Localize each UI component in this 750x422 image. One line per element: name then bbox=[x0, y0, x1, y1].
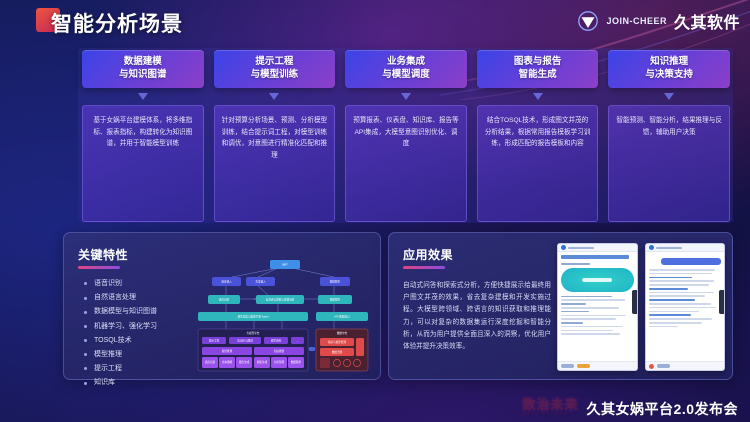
text-line bbox=[561, 318, 616, 320]
text-line bbox=[649, 280, 714, 282]
triangle-logo-icon bbox=[577, 11, 599, 31]
list-item[interactable]: 自然语言处理 bbox=[84, 294, 209, 302]
bullet-icon bbox=[84, 353, 87, 356]
text-line bbox=[649, 311, 700, 313]
svg-text:数据服务: 数据服务 bbox=[330, 279, 341, 283]
list-item[interactable]: TOSQL技术 bbox=[84, 337, 209, 345]
text-line bbox=[649, 295, 706, 297]
text-line bbox=[649, 303, 711, 305]
chat-answer-screenshot[interactable] bbox=[557, 243, 638, 371]
bullet-icon bbox=[84, 382, 87, 385]
pipeline-columns: 数据建模 与知识图谱 基于女娲平台建模体系，将多维指标、报表指标，构建转化为知识… bbox=[82, 50, 730, 222]
list-item[interactable]: 模型推理 bbox=[84, 351, 209, 359]
feature-label: TOSQL技术 bbox=[94, 337, 132, 345]
pipeline-step-2-body: 针对预算分析场景、预测、分析模型训练，结合提示词工程，对模型训练和调优，对意图进… bbox=[214, 105, 336, 222]
slide-root: 智能分析场景 JOIN-CHEER 久其软件 数据建模 与知识图谱 基于女娲平台… bbox=[0, 0, 750, 422]
application-effect-title: 应用效果 bbox=[403, 246, 453, 263]
text-line bbox=[649, 326, 678, 328]
svg-text:分析预测: 分析预测 bbox=[274, 360, 285, 364]
record-button[interactable] bbox=[649, 364, 654, 369]
app-logo-icon bbox=[649, 245, 654, 250]
list-item[interactable]: 机器学习、强化学习 bbox=[84, 323, 209, 331]
slide-header: 智能分析场景 JOIN-CHEER 久其软件 bbox=[0, 0, 750, 42]
list-item[interactable]: 提示工程 bbox=[84, 365, 209, 373]
text-line bbox=[649, 299, 695, 301]
logo-en-text: JOIN-CHEER bbox=[606, 16, 667, 26]
bullet-icon bbox=[84, 339, 87, 342]
pipeline-step-1-body-text: 基于女娲平台建模体系，将多维指标、报表指标，构建转化为知识图谱，并用于智能模型训… bbox=[90, 115, 196, 150]
application-effect-text: 自动式问答和探索式分析，方便快捷展示给最终用户图文并茂的效果，省去复杂建模和开发… bbox=[403, 280, 551, 353]
svg-text:自然语言理解与意图识别: 自然语言理解与意图识别 bbox=[266, 297, 295, 301]
pipeline-step-1-title-line2: 与知识图谱 bbox=[119, 69, 167, 82]
pipeline-step-3-title-line2: 与模型调度 bbox=[382, 69, 430, 82]
text-line bbox=[561, 326, 623, 328]
application-effect-panel: 应用效果 自动式问答和探索式分析，方便快捷展示给最终用户图文并茂的效果，省去复杂… bbox=[388, 232, 733, 380]
screenshot-gallery bbox=[557, 243, 725, 371]
pipeline-step-5-chip[interactable]: 知识推理 与决策支持 bbox=[608, 50, 730, 88]
pipeline-step-2[interactable]: 提示工程 与模型训练 针对预算分析场景、预测、分析模型训练，结合提示词工程，对模… bbox=[214, 50, 336, 222]
feature-label: 模型推理 bbox=[94, 351, 122, 359]
title-underline bbox=[78, 266, 120, 269]
feature-label: 语音识别 bbox=[94, 280, 122, 288]
text-line bbox=[649, 292, 715, 294]
svg-text:用户: 用户 bbox=[282, 262, 288, 266]
pipeline-step-2-title-line1: 提示工程 bbox=[255, 56, 293, 69]
text-line bbox=[561, 322, 583, 324]
svg-text:指标与模型管理: 指标与模型管理 bbox=[328, 340, 347, 344]
footer-button[interactable] bbox=[657, 364, 670, 368]
pipeline-step-5-body-text: 智能预测、智能分析，结果推理与反馈，辅助用户决策 bbox=[616, 115, 722, 138]
pipeline-step-5-title-line2: 与决策支持 bbox=[645, 69, 693, 82]
feature-label: 机器学习、强化学习 bbox=[94, 323, 157, 331]
svg-text:知识库与图谱: 知识库与图谱 bbox=[237, 338, 253, 342]
svg-text:API 数据接口: API 数据接口 bbox=[334, 314, 350, 318]
svg-text:模型推理: 模型推理 bbox=[222, 349, 233, 353]
side-tab-handle[interactable] bbox=[719, 290, 724, 314]
list-item[interactable]: 知识库 bbox=[84, 379, 209, 387]
screenshot-content bbox=[646, 252, 725, 333]
screenshot-footer bbox=[558, 361, 637, 370]
text-line bbox=[649, 269, 716, 271]
title-underline bbox=[403, 266, 445, 269]
svg-text:数据服务: 数据服务 bbox=[330, 297, 341, 301]
pipeline-step-3[interactable]: 业务集成 与模型调度 预算报表、仪表盘、知识库、报告等API集成，大模型意图识别… bbox=[345, 50, 467, 222]
feature-label: 数据模型与知识图谱 bbox=[94, 308, 157, 316]
down-arrow-icon bbox=[664, 93, 674, 100]
bullet-icon bbox=[84, 282, 87, 285]
pipeline-step-4-body-text: 结合TOSQL技术，形成图文并茂的分析结果，根据常用报告模板学习训练，形成匹配的… bbox=[485, 115, 591, 150]
brand-logo: JOIN-CHEER 久其软件 bbox=[577, 9, 740, 33]
pipeline-step-2-title-line2: 与模型训练 bbox=[251, 69, 299, 82]
svg-text:语音输入: 语音输入 bbox=[221, 279, 232, 283]
side-tab-handle[interactable] bbox=[632, 290, 637, 314]
down-arrow-icon bbox=[269, 93, 279, 100]
down-arrow-icon bbox=[401, 93, 411, 100]
svg-text:语音识别: 语音识别 bbox=[219, 297, 230, 301]
down-arrow-icon bbox=[533, 93, 543, 100]
text-line bbox=[561, 307, 619, 309]
text-line bbox=[561, 263, 590, 265]
text-line bbox=[649, 318, 713, 320]
svg-text:报告生成: 报告生成 bbox=[239, 360, 250, 364]
svg-text:知识图谱: 知识图谱 bbox=[274, 349, 285, 353]
svg-text:文本输入: 文本输入 bbox=[255, 279, 266, 283]
pipeline-step-1[interactable]: 数据建模 与知识图谱 基于女娲平台建模体系，将多维指标、报表指标，构建转化为知识… bbox=[82, 50, 204, 222]
feature-label: 提示工程 bbox=[94, 365, 122, 373]
text-line bbox=[561, 296, 612, 298]
screenshot-footer bbox=[646, 361, 725, 370]
pipeline-step-3-title-line1: 业务集成 bbox=[387, 56, 425, 69]
text-line bbox=[561, 299, 625, 301]
text-line bbox=[649, 307, 716, 309]
architecture-diagram: .tl{font-family:"Liberation Sans",sans-s… bbox=[192, 255, 374, 375]
screenshot-content bbox=[558, 252, 637, 340]
text-line bbox=[561, 311, 589, 313]
bullet-icon bbox=[84, 311, 87, 314]
text-line bbox=[649, 273, 713, 275]
footer-slogan: 数治未来 DATA FUTURE bbox=[523, 398, 579, 417]
pipeline-step-3-body: 预算报表、仪表盘、知识库、报告等API集成，大模型意图识别优化、调度 bbox=[345, 105, 467, 222]
footer-slogan-text: 数治未来 bbox=[523, 397, 579, 412]
pipeline-step-1-title-line1: 数据建模 bbox=[124, 56, 162, 69]
text-line bbox=[649, 314, 691, 316]
pipeline-step-4-chip[interactable]: 图表与报告 智能生成 bbox=[477, 50, 599, 88]
wordcloud-graphic bbox=[561, 268, 634, 292]
text-line bbox=[649, 277, 693, 279]
bullet-icon bbox=[84, 367, 87, 370]
text-line bbox=[561, 303, 586, 305]
screenshot-titlebar bbox=[558, 244, 637, 252]
report-answer-screenshot[interactable] bbox=[645, 243, 726, 371]
list-item[interactable]: 语音识别 bbox=[84, 280, 209, 288]
text-line bbox=[561, 333, 620, 335]
svg-text:提示工程: 提示工程 bbox=[209, 338, 220, 342]
footer-slogan-sub: DATA FUTURE bbox=[523, 413, 579, 417]
footer-event-name: 久其女娲平台2.0发布会 bbox=[587, 402, 738, 416]
text-line bbox=[649, 288, 689, 290]
pipeline-step-5-title-line1: 知识推理 bbox=[650, 56, 688, 69]
pipeline-step-2-chip[interactable]: 提示工程 与模型训练 bbox=[214, 50, 336, 88]
svg-text:模型训练: 模型训练 bbox=[271, 338, 282, 342]
app-logo-icon bbox=[561, 245, 566, 250]
svg-text:语音识别: 语音识别 bbox=[205, 360, 216, 364]
text-line bbox=[649, 322, 703, 324]
feature-label: 知识库 bbox=[94, 379, 115, 387]
pipeline-step-4-title-line2: 智能生成 bbox=[519, 69, 557, 82]
bullet-icon bbox=[84, 325, 87, 328]
list-item[interactable]: 数据模型与知识图谱 bbox=[84, 308, 209, 316]
svg-text:文本理解: 文本理解 bbox=[222, 360, 233, 364]
pipeline-step-3-chip[interactable]: 业务集成 与模型调度 bbox=[345, 50, 467, 88]
footer-button[interactable] bbox=[577, 364, 590, 368]
pipeline-step-3-body-text: 预算报表、仪表盘、知识库、报告等API集成，大模型意图识别优化、调度 bbox=[353, 115, 459, 150]
pipeline-step-4-body: 结合TOSQL技术，形成图文并茂的分析结果，根据常用报告模板学习训练，形成匹配的… bbox=[477, 105, 599, 222]
svg-text:数据治理: 数据治理 bbox=[332, 350, 343, 354]
pipeline-step-2-body-text: 针对预算分析场景、预测、分析模型训练，结合提示词工程，对模型训练和调优，对意图进… bbox=[222, 115, 328, 161]
pipeline-step-5-body: 智能预测、智能分析，结果推理与反馈，辅助用户决策 bbox=[608, 105, 730, 222]
text-line bbox=[649, 284, 710, 286]
user-message-bubble bbox=[661, 258, 722, 265]
pipeline-step-4[interactable]: 图表与报告 智能生成 结合TOSQL技术，形成图文并茂的分析结果，根据常用报告模… bbox=[477, 50, 599, 222]
key-features-title: 关键特性 bbox=[78, 246, 128, 263]
svg-text:…: … bbox=[296, 339, 299, 342]
pipeline-step-1-chip[interactable]: 数据建模 与知识图谱 bbox=[82, 50, 204, 88]
key-features-list: 语音识别 自然语言处理 数据模型与知识图谱 机器学习、强化学习 TOSQL技术 … bbox=[84, 280, 209, 394]
down-arrow-icon bbox=[138, 93, 148, 100]
svg-text:数据中台: 数据中台 bbox=[337, 331, 348, 335]
text-line bbox=[561, 315, 626, 317]
logo-cn-text: 久其软件 bbox=[674, 9, 740, 33]
feature-label: 自然语言处理 bbox=[94, 294, 136, 302]
svg-text:图表生成: 图表生成 bbox=[257, 360, 268, 364]
svg-text:数据服务: 数据服务 bbox=[291, 360, 302, 364]
app-title-placeholder bbox=[568, 247, 594, 249]
bullet-icon bbox=[84, 297, 87, 300]
page-title: 智能分析场景 bbox=[51, 8, 183, 38]
pipeline-step-1-body: 基于女娲平台建模体系，将多维指标、报表指标，构建转化为知识图谱，并用于智能模型训… bbox=[82, 105, 204, 222]
footer-button[interactable] bbox=[561, 364, 574, 368]
screenshot-titlebar bbox=[646, 244, 725, 252]
pipeline-step-4-title-line1: 图表与报告 bbox=[514, 56, 562, 69]
svg-text:大模型平台: 大模型平台 bbox=[247, 331, 260, 335]
svg-text:模型调度与推理引擎 Agent: 模型调度与推理引擎 Agent bbox=[238, 314, 269, 318]
app-title-placeholder bbox=[656, 247, 682, 249]
query-bar bbox=[561, 255, 629, 259]
text-line bbox=[561, 330, 613, 332]
key-features-panel: 关键特性 语音识别 自然语言处理 数据模型与知识图谱 机器学习、强化学习 TOS… bbox=[63, 232, 381, 380]
slide-footer: 数治未来 DATA FUTURE 久其女娲平台2.0发布会 bbox=[523, 398, 738, 417]
pipeline-step-5[interactable]: 知识推理 与决策支持 智能预测、智能分析，结果推理与反馈，辅助用户决策 bbox=[608, 50, 730, 222]
